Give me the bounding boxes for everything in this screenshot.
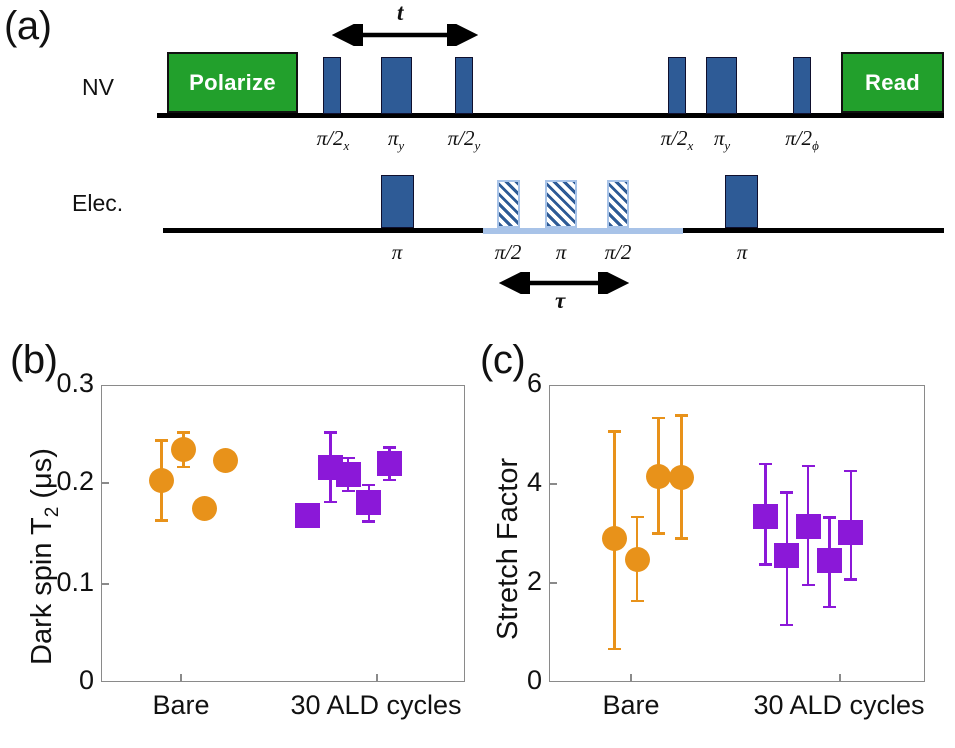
nv-pulse-label-3-text: π/2 [448,126,475,150]
elec-pulse-label-1: π [377,240,417,265]
nv-pulse-label-6-text: π/2 [785,126,812,150]
error-bar-cap [823,516,836,518]
error-bar-cap [177,466,190,468]
error-bar-cap [383,446,396,448]
data-point-square [356,490,381,515]
row-label-elec: Elec. [72,190,123,217]
row-label-nv: NV [82,74,114,101]
data-point-circle [669,465,694,490]
elec-pulse-1 [381,175,414,228]
t-arrow-svg [332,24,478,46]
elec-pulse-label-3: π [542,240,580,265]
elec-pulse-hatch-3 [607,180,629,228]
error-bar-cap [802,465,815,467]
nv-pulse-1 [323,57,341,114]
nv-pulse-3 [455,57,473,114]
data-point-square [774,543,799,568]
error-bar-cap [362,484,375,486]
error-bar-cap [362,520,375,522]
error-bar-cap [759,463,772,465]
data-point-square [377,451,402,476]
t-arrow-label: t [397,0,403,26]
plot-b-data-layer [0,340,480,748]
error-bar-cap [675,537,688,539]
error-bar-cap [383,479,396,481]
nv-pulse-label-1-text: π/2 [317,126,344,150]
nv-pulse-label-5: πy [697,126,747,154]
error-bar-cap [844,578,857,580]
error-bar-cap [631,600,644,602]
error-bar-cap [342,490,355,492]
data-point-circle [192,496,217,521]
data-point-circle [602,526,627,551]
error-bar-cap [652,417,665,419]
data-point-square [796,514,821,539]
nv-pulse-label-2-sub: y [398,138,404,153]
elec-pulse-label-5: π [722,240,762,265]
data-point-square [838,520,863,545]
elec-pulse-2 [725,175,758,228]
error-bar-cap [652,532,665,534]
error-bar-cap [608,648,621,650]
elec-pulse-hatch-2 [545,180,577,228]
elec-pulse-label-2: π/2 [479,240,537,265]
error-bar-cap [759,563,772,565]
error-bar-cap [324,501,337,503]
nv-pulse-label-1-sub: x [344,138,350,153]
nv-pulse-2 [381,57,412,114]
t-arrow [332,24,478,46]
elec-baseline-dd [483,228,683,234]
nv-pulse-6 [793,57,811,114]
data-point-circle [171,437,196,462]
nv-pulse-label-4-text: π/2 [661,126,688,150]
nv-pulse-label-2: πy [371,126,421,154]
nv-pulse-label-5-text: π [714,126,725,150]
data-point-circle [149,468,174,493]
elec-baseline-left [163,228,483,233]
data-point-circle [625,547,650,572]
panel-label-a: (a) [4,4,51,49]
nv-pulse-label-6-sub: ϕ [812,138,819,153]
error-bar-cap [177,431,190,433]
nv-pulse-label-3-sub: y [475,138,481,153]
nv-baseline [157,113,944,118]
error-bar-cap [823,606,836,608]
data-point-square [295,503,320,528]
data-point-square [336,462,361,487]
nv-pulse-label-4-sub: x [688,138,694,153]
elec-pulse-label-4: π/2 [589,240,647,265]
nv-pulse-label-2-text: π [388,126,399,150]
plot-c-data-layer [470,340,955,748]
error-bar-cap [155,519,168,521]
data-point-square [817,548,842,573]
nv-pulse-5 [706,57,737,114]
tau-arrow-label: τ [555,288,565,314]
figure-root: (a) NV Polarize Read π/2x πy π/2y π/2x π… [0,0,955,748]
error-bar-cap [780,624,793,626]
elec-baseline-right [683,228,944,233]
nv-polarize-block: Polarize [167,52,298,113]
panel-a-pulse-sequence: (a) NV Polarize Read π/2x πy π/2y π/2x π… [0,0,955,330]
nv-pulse-label-1: π/2x [303,126,363,154]
data-point-circle [213,448,238,473]
nv-read-block: Read [841,52,944,113]
data-point-circle [646,464,671,489]
nv-pulse-label-3: π/2y [434,126,494,154]
nv-pulse-4 [668,57,686,114]
error-bar-cap [844,470,857,472]
data-point-square [753,504,778,529]
panel-c-chart: 6 4 2 0 Stretch Factor Bare 30 ALD cycle… [470,340,955,748]
nv-pulse-label-6: π/2ϕ [772,126,832,154]
error-bar-cap [802,584,815,586]
elec-pulse-hatch-1 [497,180,520,228]
error-bar-cap [780,491,793,493]
error-bar-cap [608,430,621,432]
error-bar-cap [675,414,688,416]
error-bar-cap [342,457,355,459]
error-bar-cap [155,439,168,441]
panel-b-chart: 0.3 0.2 0.1 0 Dark spin T2 (μs) Bare 30 … [0,340,480,748]
nv-pulse-label-5-sub: y [724,138,730,153]
error-bar-cap [631,516,644,518]
error-bar-cap [324,431,337,433]
